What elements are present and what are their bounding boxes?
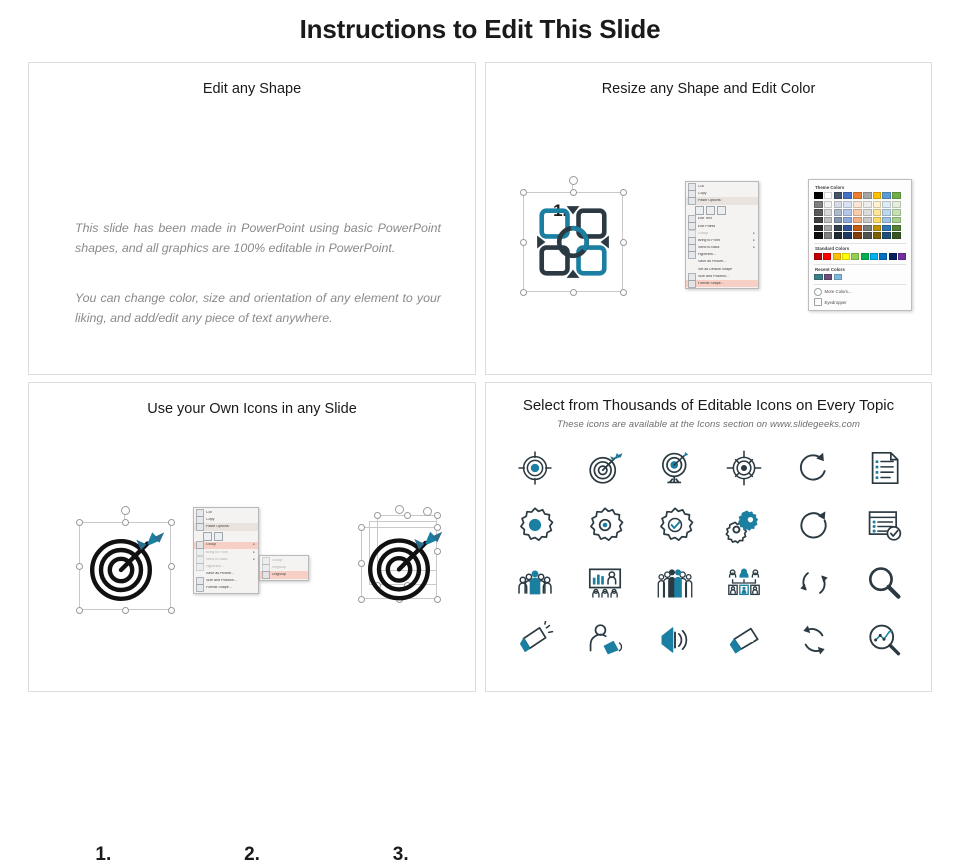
- color-swatch[interactable]: [863, 201, 872, 208]
- icon-cell[interactable]: [861, 617, 907, 663]
- color-swatch[interactable]: [873, 217, 882, 224]
- panel-title-own-icons: Use your Own Icons in any Slide: [29, 401, 475, 417]
- menu-item-paste-options[interactable]: Paste Options:: [686, 197, 758, 204]
- divider: [814, 264, 906, 265]
- checklist-approved-icon: [865, 506, 903, 544]
- icon-cell[interactable]: [582, 502, 628, 548]
- circular-arrow-icon: [795, 506, 833, 544]
- chevron-right-icon: ▸: [753, 239, 755, 242]
- resize-handle[interactable]: [404, 512, 411, 519]
- presentation-meeting-icon: [586, 564, 624, 602]
- color-swatch[interactable]: [892, 232, 901, 239]
- refresh-cycle-icon: [795, 621, 833, 659]
- color-swatch[interactable]: [882, 192, 891, 199]
- theme-color-column[interactable]: [882, 192, 891, 239]
- chevron-right-icon: ▸: [253, 551, 255, 554]
- edit-shape-paragraph-2: You can change color, size and orientati…: [75, 288, 441, 329]
- resize-handle-se[interactable]: [168, 607, 175, 614]
- group-submenu[interactable]: Group Regroup Ungroup: [259, 555, 309, 581]
- color-swatch[interactable]: [824, 274, 833, 281]
- megaphone-icon: [516, 621, 554, 659]
- icon-cell[interactable]: [512, 502, 558, 548]
- icon-cell[interactable]: [512, 560, 558, 606]
- color-swatch[interactable]: [853, 209, 862, 216]
- ungrouped-icon-figure[interactable]: [347, 503, 467, 615]
- color-swatch[interactable]: [843, 201, 852, 208]
- gear-check-icon: [656, 506, 694, 544]
- paste-option-buttons[interactable]: [686, 205, 758, 216]
- icon-cell[interactable]: [652, 617, 698, 663]
- resize-handle-s[interactable]: [570, 289, 577, 296]
- color-swatch[interactable]: [814, 192, 823, 199]
- sync-arrows-icon: [795, 564, 833, 602]
- menu-item-bring-to-front: Bring to Front▸: [194, 549, 258, 556]
- color-swatch[interactable]: [834, 232, 843, 239]
- submenu-item-ungroup[interactable]: Ungroup: [260, 571, 308, 578]
- menu-item-edit-text[interactable]: Edit Text: [686, 216, 758, 223]
- menu-item-send-to-back[interactable]: Send to Back▸: [686, 244, 758, 251]
- divider: [814, 243, 906, 244]
- panel-own-icons: Use your Own Icons in any Slide 1. 2. 3.: [28, 382, 476, 692]
- eyedropper-button[interactable]: Eyedropper: [814, 298, 906, 306]
- color-swatch[interactable]: [898, 253, 906, 260]
- icon-cell[interactable]: [652, 560, 698, 606]
- people-group-icon: [516, 564, 554, 602]
- color-swatch[interactable]: [814, 209, 823, 216]
- color-swatch[interactable]: [889, 253, 897, 260]
- edit-shape-paragraph-1: This slide has been made in PowerPoint u…: [75, 218, 441, 259]
- rotation-handle[interactable]: [395, 505, 404, 514]
- theme-color-column[interactable]: [892, 192, 901, 239]
- color-swatch[interactable]: [834, 209, 843, 216]
- panel-title-resize-shape: Resize any Shape and Edit Color: [486, 81, 931, 97]
- palette-icon: [814, 288, 822, 296]
- gear-filled-icon: [516, 506, 554, 544]
- resize-handle-ne[interactable]: [168, 519, 175, 526]
- more-colors-button[interactable]: More Colors...: [814, 288, 906, 296]
- checklist-document-icon: [865, 449, 903, 487]
- rotation-handle[interactable]: [121, 506, 130, 515]
- color-swatch[interactable]: [824, 209, 833, 216]
- chevron-right-icon: ▸: [253, 558, 255, 561]
- icon-cell[interactable]: [791, 560, 837, 606]
- icon-cell[interactable]: [721, 445, 767, 491]
- color-swatch[interactable]: [873, 225, 882, 232]
- dartboard-arrow-icon: [586, 449, 624, 487]
- four-square-hub-icon: [527, 196, 619, 288]
- standard-colors-label: Standard Colors: [815, 246, 906, 251]
- color-picker-panel[interactable]: Theme Colors Standard Colors Recent Colo…: [808, 179, 912, 311]
- color-swatch[interactable]: [834, 225, 843, 232]
- icon-library-grid[interactable]: [500, 439, 919, 669]
- color-swatch[interactable]: [824, 225, 833, 232]
- format-shape-icon: [196, 584, 204, 592]
- color-swatch[interactable]: [814, 201, 823, 208]
- page-title: Instructions to Edit This Slide: [0, 14, 960, 45]
- color-swatch[interactable]: [863, 232, 872, 239]
- icon-cell[interactable]: [582, 560, 628, 606]
- selected-shape-figure[interactable]: [514, 178, 632, 298]
- color-swatch[interactable]: [892, 201, 901, 208]
- color-swatch[interactable]: [870, 253, 878, 260]
- paste-keep-format-icon[interactable]: [695, 206, 704, 215]
- paste-merge-format-icon[interactable]: [706, 206, 715, 215]
- recent-colors-row[interactable]: [814, 274, 906, 281]
- menu-item-format-shape[interactable]: Format Shape...: [686, 280, 758, 287]
- color-swatch[interactable]: [834, 217, 843, 224]
- resize-handle-ne[interactable]: [620, 189, 627, 196]
- color-swatch[interactable]: [853, 217, 862, 224]
- color-swatch[interactable]: [863, 217, 872, 224]
- panel-title-icon-library: Select from Thousands of Editable Icons …: [486, 397, 931, 414]
- theme-colors-label: Theme Colors: [815, 185, 906, 190]
- panel-icon-library: Select from Thousands of Editable Icons …: [485, 382, 932, 692]
- icon-cell[interactable]: [861, 445, 907, 491]
- theme-colors-grid[interactable]: [814, 192, 906, 239]
- icon-cell[interactable]: [582, 445, 628, 491]
- color-swatch[interactable]: [814, 225, 823, 232]
- icon-cell[interactable]: [512, 617, 558, 663]
- color-swatch[interactable]: [863, 192, 872, 199]
- color-swatch[interactable]: [882, 201, 891, 208]
- menu-item-hyperlink[interactable]: Hyperlink...: [686, 252, 758, 259]
- panel-edit-any-shape: Edit any Shape This slide has been made …: [28, 62, 476, 375]
- color-swatch[interactable]: [853, 232, 862, 239]
- resize-handle-s[interactable]: [122, 607, 129, 614]
- color-swatch[interactable]: [824, 201, 833, 208]
- own-icons-step-1: 1.: [29, 844, 178, 866]
- color-swatch[interactable]: [861, 253, 869, 260]
- icon-cell[interactable]: [582, 617, 628, 663]
- icon-cell[interactable]: [652, 445, 698, 491]
- color-swatch[interactable]: [843, 192, 852, 199]
- color-swatch[interactable]: [873, 232, 882, 239]
- menu-item-cut[interactable]: Cut: [686, 183, 758, 190]
- icon-cell[interactable]: [791, 445, 837, 491]
- color-swatch[interactable]: [814, 217, 823, 224]
- icon-cell[interactable]: [721, 560, 767, 606]
- color-swatch[interactable]: [853, 192, 862, 199]
- paste-icon: [196, 523, 204, 531]
- color-swatch[interactable]: [843, 209, 852, 216]
- eyedropper-icon: [814, 298, 822, 306]
- chevron-right-icon: ▸: [753, 246, 755, 249]
- dartboard-arrow-icon: [85, 526, 165, 606]
- color-swatch[interactable]: [834, 274, 843, 281]
- icon-cell[interactable]: [791, 617, 837, 663]
- color-swatch[interactable]: [892, 225, 901, 232]
- theme-color-column[interactable]: [853, 192, 862, 239]
- color-swatch[interactable]: [863, 209, 872, 216]
- resize-handle-n[interactable]: [122, 519, 129, 526]
- color-swatch[interactable]: [823, 253, 831, 260]
- color-swatch[interactable]: [863, 225, 872, 232]
- icon-cell[interactable]: [512, 445, 558, 491]
- color-swatch[interactable]: [824, 192, 833, 199]
- divider: [814, 284, 906, 285]
- megaphone-discount-icon: [725, 621, 763, 659]
- color-swatch[interactable]: [814, 253, 822, 260]
- standard-colors-row[interactable]: [814, 253, 906, 260]
- format-shape-icon: [688, 280, 696, 288]
- menu-item-group: Group▸: [686, 230, 758, 237]
- menu-item-set-default-shape[interactable]: Set as Default Shape: [686, 266, 758, 273]
- color-swatch[interactable]: [843, 225, 852, 232]
- color-swatch[interactable]: [834, 201, 843, 208]
- icon-cell[interactable]: [791, 502, 837, 548]
- color-swatch[interactable]: [892, 209, 901, 216]
- resize-handle-e[interactable]: [620, 239, 627, 246]
- theme-color-column[interactable]: [843, 192, 852, 239]
- resize-handle-w[interactable]: [520, 239, 527, 246]
- color-swatch[interactable]: [882, 232, 891, 239]
- resize-handle-sw[interactable]: [520, 289, 527, 296]
- resize-handle-sw[interactable]: [76, 607, 83, 614]
- team-crowd-icon: [656, 564, 694, 602]
- rotation-handle[interactable]: [569, 176, 578, 185]
- resize-handle[interactable]: [434, 512, 441, 519]
- color-swatch[interactable]: [824, 217, 833, 224]
- menu-item-paste-options[interactable]: Paste Options:: [194, 523, 258, 530]
- color-swatch[interactable]: [814, 232, 823, 239]
- theme-color-column[interactable]: [873, 192, 882, 239]
- paste-icon: [688, 197, 696, 205]
- color-swatch[interactable]: [843, 217, 852, 224]
- color-swatch[interactable]: [851, 253, 859, 260]
- magnifier-icon: [865, 564, 903, 602]
- magnifier-analytics-icon: [865, 621, 903, 659]
- color-swatch[interactable]: [853, 201, 862, 208]
- menu-item-copy[interactable]: Copy: [686, 190, 758, 197]
- org-chart-team-icon: [725, 564, 763, 602]
- crosshair-target-icon: [516, 449, 554, 487]
- color-swatch[interactable]: [873, 201, 882, 208]
- color-swatch[interactable]: [833, 253, 841, 260]
- person-announce-icon: [586, 621, 624, 659]
- grouped-icon-figure[interactable]: [71, 506, 179, 616]
- dartboard-arrow-icon: [363, 523, 443, 603]
- color-swatch[interactable]: [879, 253, 887, 260]
- color-swatch[interactable]: [824, 232, 833, 239]
- menu-item-edit-points[interactable]: Edit Points: [686, 223, 758, 230]
- target-stand-icon: [656, 449, 694, 487]
- panel-resize-shape: Resize any Shape and Edit Color 1. 2. 3.: [485, 62, 932, 375]
- resize-handle-e[interactable]: [168, 563, 175, 570]
- color-swatch[interactable]: [873, 192, 882, 199]
- color-swatch[interactable]: [853, 225, 862, 232]
- theme-color-column[interactable]: [834, 192, 843, 239]
- color-swatch[interactable]: [843, 232, 852, 239]
- color-swatch[interactable]: [814, 274, 823, 281]
- color-swatch[interactable]: [834, 192, 843, 199]
- recent-colors-label: Recent Colors: [815, 267, 906, 272]
- resize-handle-w[interactable]: [76, 563, 83, 570]
- icon-cell[interactable]: [652, 502, 698, 548]
- resize-handle-se[interactable]: [620, 289, 627, 296]
- color-swatch[interactable]: [882, 209, 891, 216]
- color-swatch[interactable]: [882, 225, 891, 232]
- color-swatch[interactable]: [892, 217, 901, 224]
- own-icons-step-numbers: 1. 2. 3.: [29, 844, 475, 866]
- gear-outline-icon: [586, 506, 624, 544]
- panel-title-edit-shape: Edit any Shape: [29, 81, 475, 97]
- refresh-arrow-icon: [795, 449, 833, 487]
- own-icons-step-2: 2.: [178, 844, 327, 866]
- color-swatch[interactable]: [882, 217, 891, 224]
- paste-picture-icon[interactable]: [717, 206, 726, 215]
- resize-handle-nw[interactable]: [520, 189, 527, 196]
- resize-handle-n[interactable]: [570, 189, 577, 196]
- speaker-icon: [656, 621, 694, 659]
- icon-context-menu[interactable]: Cut Copy Paste Options: Group▸ Bring to …: [193, 507, 259, 594]
- menu-item-size-and-position[interactable]: Size and Position...: [686, 273, 758, 280]
- theme-color-column[interactable]: [863, 192, 872, 239]
- paste-picture-icon[interactable]: [214, 532, 223, 541]
- color-swatch[interactable]: [892, 192, 901, 199]
- menu-item-bring-to-front[interactable]: Bring to Front▸: [686, 237, 758, 244]
- chevron-right-icon: ▸: [253, 543, 255, 546]
- theme-color-column[interactable]: [824, 192, 833, 239]
- shape-context-menu[interactable]: Cut Copy Paste Options: Edit Text Edit P…: [685, 181, 759, 289]
- double-gear-icon: [725, 506, 763, 544]
- chevron-right-icon: ▸: [753, 232, 755, 235]
- crosshair-scope-icon: [725, 449, 763, 487]
- rotation-handle[interactable]: [423, 507, 432, 516]
- paste-keep-format-icon[interactable]: [203, 532, 212, 541]
- icon-library-subtitle: These icons are available at the Icons s…: [486, 419, 931, 430]
- menu-item-format-shape[interactable]: Format Shape...: [194, 585, 258, 592]
- paste-option-buttons[interactable]: [194, 531, 258, 542]
- resize-handle[interactable]: [374, 512, 381, 519]
- ungroup-icon: [262, 571, 270, 579]
- color-swatch[interactable]: [842, 253, 850, 260]
- resize-handle-nw[interactable]: [76, 519, 83, 526]
- icon-cell[interactable]: [861, 502, 907, 548]
- icon-cell[interactable]: [721, 502, 767, 548]
- color-swatch[interactable]: [873, 209, 882, 216]
- menu-item-save-as-picture[interactable]: Save as Picture...: [686, 259, 758, 266]
- icon-cell[interactable]: [721, 617, 767, 663]
- theme-color-column[interactable]: [814, 192, 823, 239]
- slide-canvas: Instructions to Edit This Slide Edit any…: [0, 0, 960, 720]
- own-icons-step-3: 3.: [326, 844, 475, 866]
- icon-cell[interactable]: [861, 560, 907, 606]
